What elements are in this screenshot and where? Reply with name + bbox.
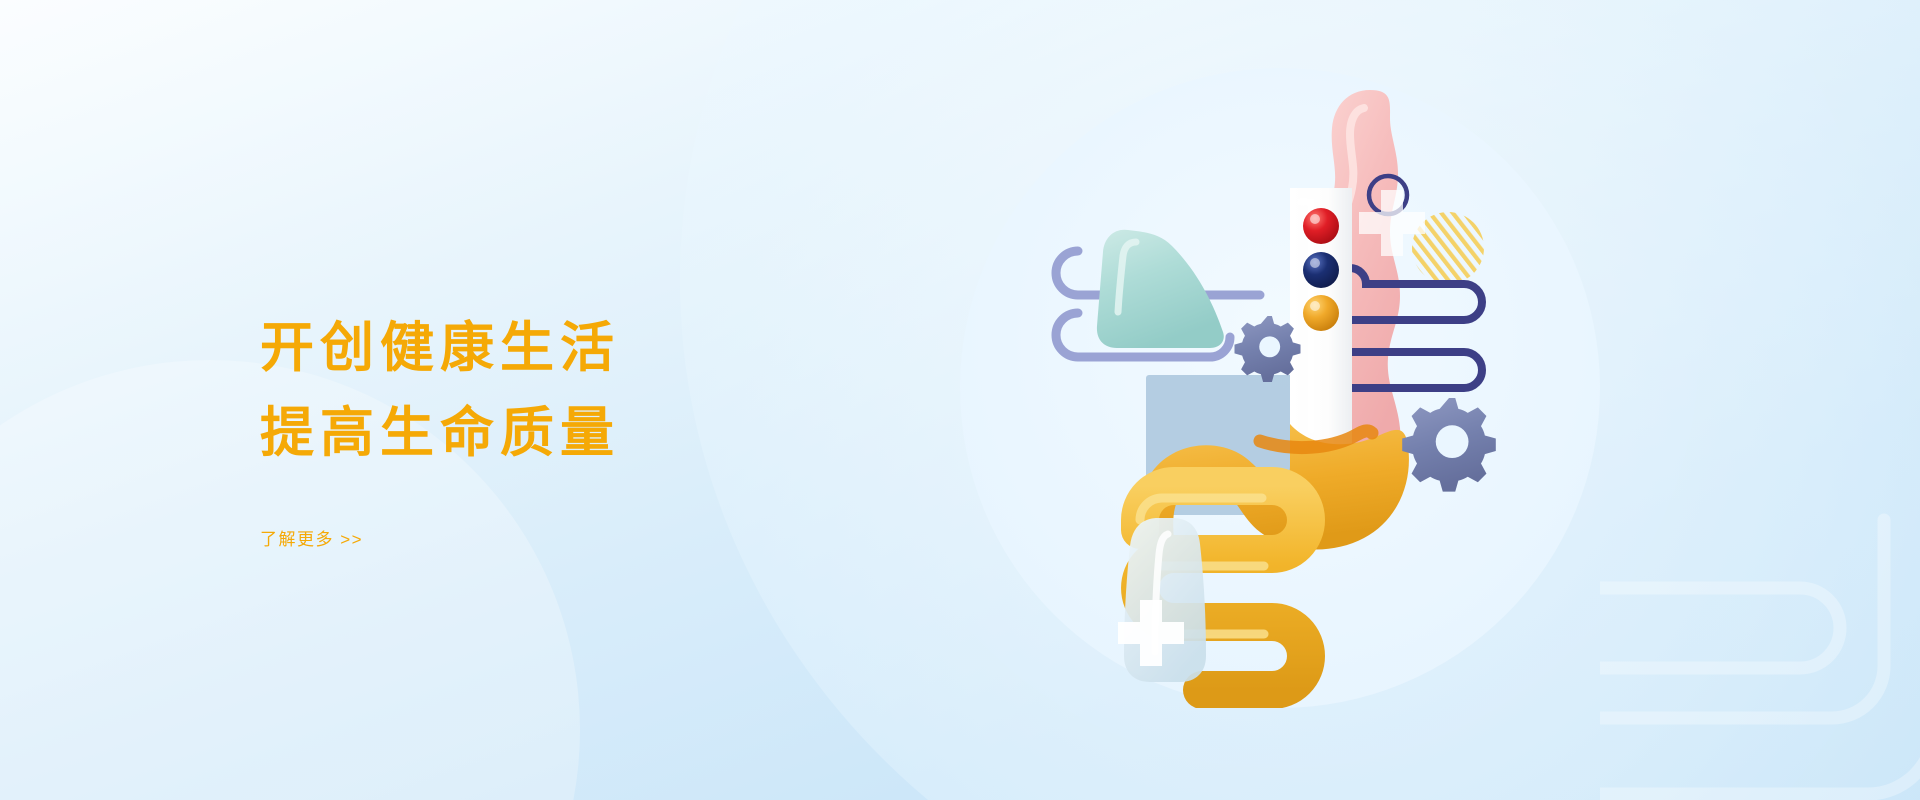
page-title: 开创健康生活 提高生命质量 — [260, 306, 880, 477]
hero-copy: 开创健康生活 提高生命质量 了解更多 >> — [260, 306, 880, 550]
headline-line-1: 开创健康生活 — [260, 318, 620, 378]
gear-small-icon — [1235, 316, 1301, 382]
learn-more-link[interactable]: 了解更多 >> — [260, 525, 363, 550]
digestive-system-illustration-icon — [960, 68, 1600, 708]
specimen-jar-blue — [1124, 518, 1206, 682]
liver-teal — [1097, 230, 1224, 348]
illustration — [960, 68, 1600, 708]
background-serpentine-lines-icon — [1600, 510, 1920, 800]
headline-line-2: 提高生命质量 — [260, 391, 880, 476]
test-tube-specimens — [1303, 208, 1339, 331]
hero-banner: 开创健康生活 提高生命质量 了解更多 >> — [0, 0, 1920, 800]
gear-large-icon — [1402, 398, 1496, 492]
